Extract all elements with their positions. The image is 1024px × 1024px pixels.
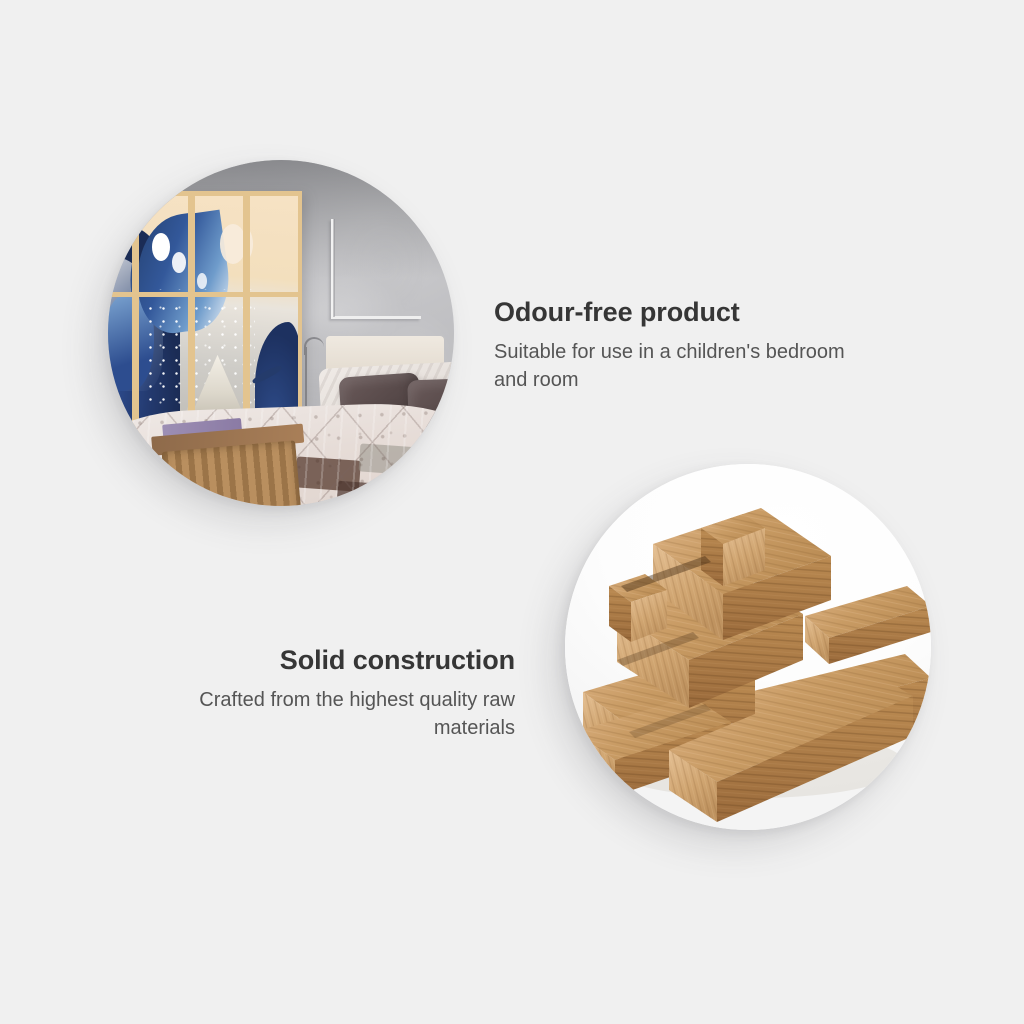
stacked-lumber-illustration — [565, 464, 931, 830]
bedroom-photo-medallion — [108, 160, 454, 506]
rattan-nightstand — [152, 423, 314, 506]
lumber-scene — [565, 464, 931, 830]
bedroom-scene — [108, 160, 454, 506]
feature-text-odour-free: Odour-free product Suitable for use in a… — [494, 297, 854, 395]
rattan-basket — [162, 441, 305, 506]
feature-title: Solid construction — [140, 645, 515, 677]
feature-title: Odour-free product — [494, 297, 854, 329]
feature-description: Crafted from the highest quality raw mat… — [140, 686, 515, 743]
infographic-canvas: Odour-free product Suitable for use in a… — [0, 0, 1024, 1024]
feature-description: Suitable for use in a children's bedroom… — [494, 338, 854, 395]
picture-frame-icon — [331, 219, 421, 319]
lumber-photo-medallion — [565, 464, 931, 830]
feature-text-solid-construction: Solid construction Crafted from the high… — [140, 645, 515, 743]
